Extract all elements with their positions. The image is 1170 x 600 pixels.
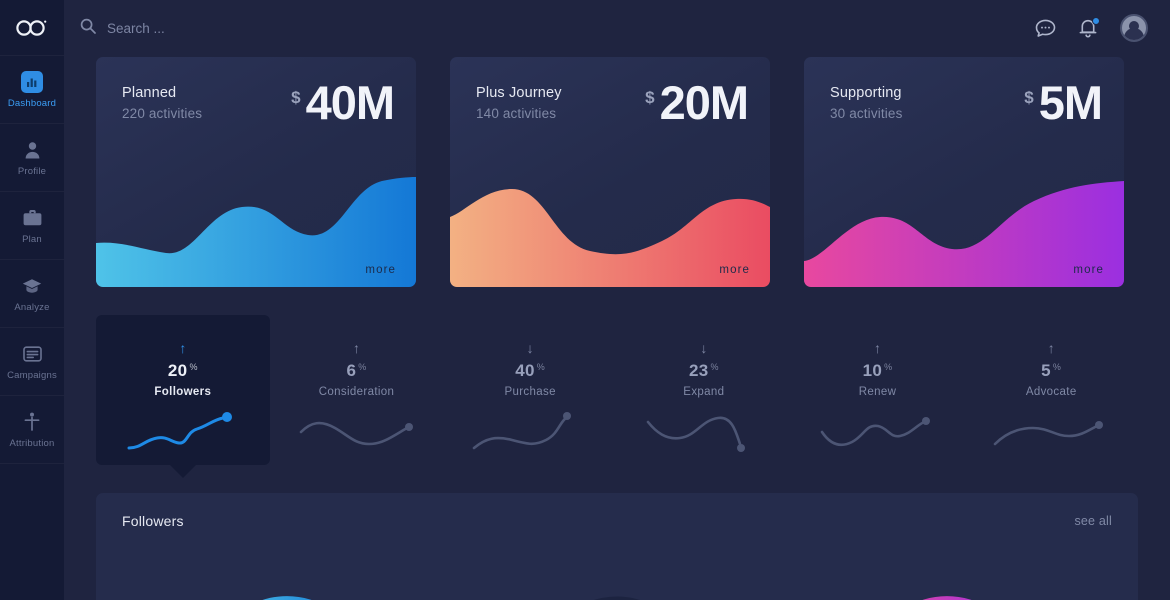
user-icon: [24, 139, 41, 161]
sidebar-item-campaigns[interactable]: Campaigns: [0, 328, 64, 396]
infinity-logo-icon: [14, 18, 50, 38]
funnel-label: Advocate: [1026, 386, 1077, 398]
funnel-value: 40 %: [515, 361, 545, 381]
sidebar-item-label: Profile: [18, 166, 46, 177]
gauge-chart-orange[interactable]: [502, 545, 732, 600]
kpi-value: 20M: [660, 79, 748, 126]
arrow-up-icon: ↑: [1048, 341, 1055, 357]
kpi-amount: $ 5M: [1024, 79, 1102, 126]
kpi-value: 5M: [1039, 79, 1102, 126]
funnel-label: Expand: [683, 386, 724, 398]
followers-panel-header: Followers see all: [122, 513, 1112, 529]
funnel-value: 6 %: [346, 361, 366, 381]
avatar[interactable]: [1120, 14, 1148, 42]
kpi-amount: $ 40M: [291, 79, 394, 126]
kpi-value: 40M: [306, 79, 394, 126]
topbar: [64, 0, 1170, 56]
kpi-currency: $: [291, 88, 300, 108]
gauge-chart-blue[interactable]: [172, 545, 402, 600]
funnel-sparkline: [991, 410, 1111, 456]
funnel-sparkline: [297, 410, 417, 456]
gauge-row: [122, 545, 1112, 600]
kpi-card-row: Planned 220 activities $ 40M more: [64, 57, 1170, 287]
sidebar-item-label: Dashboard: [8, 98, 56, 109]
app-logo[interactable]: [0, 0, 64, 56]
arrow-up-icon: ↑: [874, 341, 881, 357]
dashboard-app: Dashboard Profile Plan: [0, 0, 1170, 600]
chat-bubble-icon[interactable]: [1035, 19, 1056, 38]
sidebar-item-attribution[interactable]: Attribution: [0, 396, 64, 464]
notification-dot: [1092, 17, 1100, 25]
sidebar-item-dashboard[interactable]: Dashboard: [0, 56, 64, 124]
person-arms-icon: [24, 411, 40, 433]
panel-title: Followers: [122, 513, 184, 529]
funnel-sparkline: [470, 410, 590, 456]
funnel-value: 5 %: [1041, 361, 1061, 381]
funnel-item-followers[interactable]: ↑ 20 % Followers: [96, 315, 270, 465]
bar-chart-icon: [21, 71, 43, 93]
funnel-sparkline: [818, 410, 938, 456]
kpi-card-supporting[interactable]: Supporting 30 activities $ 5M more: [804, 57, 1124, 287]
funnel-label: Purchase: [504, 386, 555, 398]
funnel-metrics-row: ↑ 20 % Followers ↑ 6 % Consideration: [64, 315, 1170, 465]
kpi-currency: $: [1024, 88, 1033, 108]
sidebar-item-plan[interactable]: Plan: [0, 192, 64, 260]
arrow-up-icon: ↑: [353, 341, 360, 357]
sidebar-item-profile[interactable]: Profile: [0, 124, 64, 192]
sidebar-item-label: Attribution: [10, 438, 55, 449]
sidebar: Dashboard Profile Plan: [0, 0, 64, 600]
briefcase-icon: [23, 207, 42, 229]
search-box[interactable]: [80, 18, 1035, 39]
list-card-icon: [23, 343, 42, 365]
kpi-card-planned[interactable]: Planned 220 activities $ 40M more: [96, 57, 416, 287]
sidebar-item-label: Campaigns: [7, 370, 57, 381]
sidebar-item-label: Analyze: [14, 302, 49, 313]
followers-panel: Followers see all: [96, 493, 1138, 600]
gauge-chart-pink[interactable]: [832, 545, 1062, 600]
kpi-more-link[interactable]: more: [365, 264, 396, 276]
funnel-label: Renew: [859, 386, 897, 398]
graduation-cap-icon: [22, 275, 42, 297]
search-input[interactable]: [107, 21, 387, 36]
funnel-item-renew[interactable]: ↑ 10 % Renew: [791, 315, 965, 465]
bell-icon[interactable]: [1079, 18, 1097, 38]
funnel-label: Consideration: [319, 386, 395, 398]
kpi-more-link[interactable]: more: [719, 264, 750, 276]
funnel-sparkline: [644, 410, 764, 456]
arrow-down-icon: ↓: [527, 341, 534, 357]
funnel-sparkline: [123, 410, 243, 456]
funnel-value: 10 %: [863, 361, 893, 381]
topbar-actions: [1035, 14, 1148, 42]
funnel-item-expand[interactable]: ↓ 23 % Expand: [617, 315, 791, 465]
see-all-link[interactable]: see all: [1074, 514, 1112, 528]
sidebar-item-label: Plan: [22, 234, 42, 245]
search-icon: [80, 18, 96, 39]
kpi-card-plus-journey[interactable]: Plus Journey 140 activities $ 20M more: [450, 57, 770, 287]
funnel-label: Followers: [154, 386, 211, 398]
funnel-item-advocate[interactable]: ↑ 5 % Advocate: [964, 315, 1138, 465]
sidebar-item-analyze[interactable]: Analyze: [0, 260, 64, 328]
arrow-down-icon: ↓: [700, 341, 707, 357]
kpi-more-link[interactable]: more: [1073, 264, 1104, 276]
main-content: Planned 220 activities $ 40M more: [64, 0, 1170, 600]
funnel-item-purchase[interactable]: ↓ 40 % Purchase: [443, 315, 617, 465]
kpi-amount: $ 20M: [645, 79, 748, 126]
funnel-value: 23 %: [689, 361, 719, 381]
arrow-up-icon: ↑: [179, 341, 186, 357]
funnel-value: 20 %: [168, 361, 198, 381]
funnel-item-consideration[interactable]: ↑ 6 % Consideration: [270, 315, 444, 465]
kpi-currency: $: [645, 88, 654, 108]
